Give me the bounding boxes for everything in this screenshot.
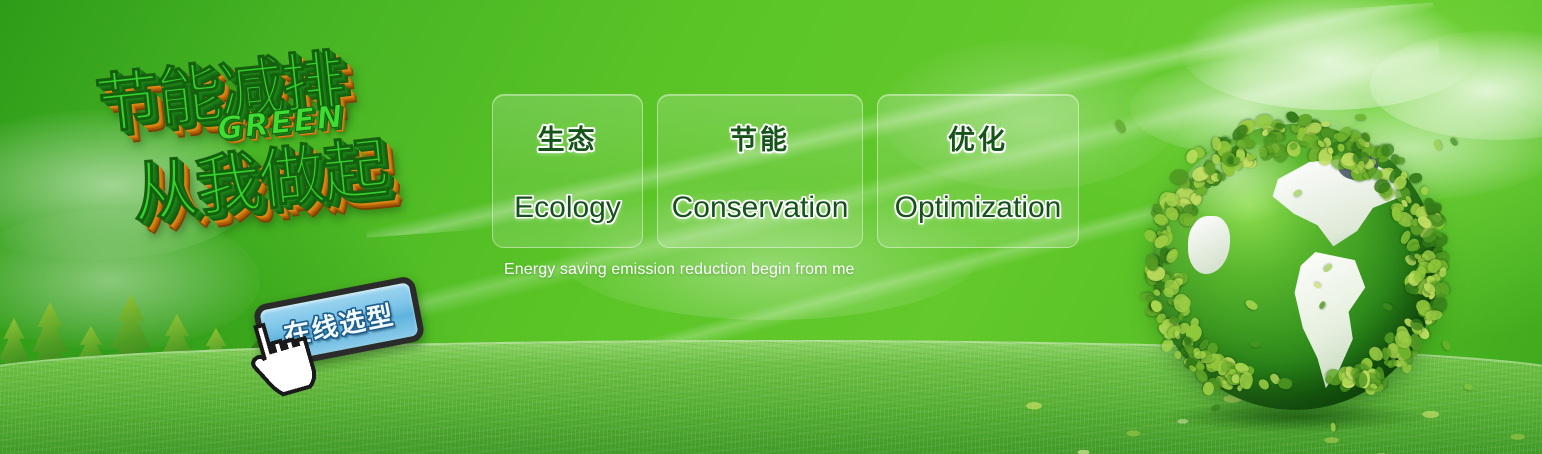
feature-card-optimization[interactable]: 优化 Optimization (877, 94, 1079, 248)
feature-card-ecology[interactable]: 生态 Ecology (492, 94, 643, 248)
card-title-cn: 节能 (730, 118, 790, 157)
promo-banner: green-globe-with-ivy 节能减排 GREEN 从我做起 生态 … (0, 0, 1542, 454)
globe-sphere (1152, 124, 1438, 410)
card-title-en: Ecology (514, 191, 621, 225)
continent-south-america (1280, 252, 1384, 388)
feature-card-group: 生态 Ecology 节能 Conservation 优化 Optimizati… (492, 94, 1079, 248)
card-title-cn: 优化 (948, 118, 1008, 157)
globe-highlight (1186, 144, 1306, 226)
continent-landmass (1188, 216, 1230, 274)
pointing-hand-cursor-icon (243, 318, 317, 400)
headline-3d: 节能减排 GREEN 从我做起 (81, 14, 503, 285)
continent-landmass (1338, 152, 1378, 180)
tagline-text: Energy saving emission reduction begin f… (504, 261, 855, 279)
card-title-en: Optimization (895, 191, 1062, 225)
headline-cn-bottom: 从我做起 (128, 129, 391, 232)
feature-card-conservation[interactable]: 节能 Conservation (657, 94, 863, 248)
card-title-cn: 生态 (538, 118, 598, 157)
card-title-en: Conservation (672, 191, 849, 225)
globe-alt-text: green-globe-with-ivy (1140, 118, 1141, 119)
green-globe: green-globe-with-ivy (1140, 118, 1450, 428)
cta-area: 在线选型 (249, 276, 424, 368)
